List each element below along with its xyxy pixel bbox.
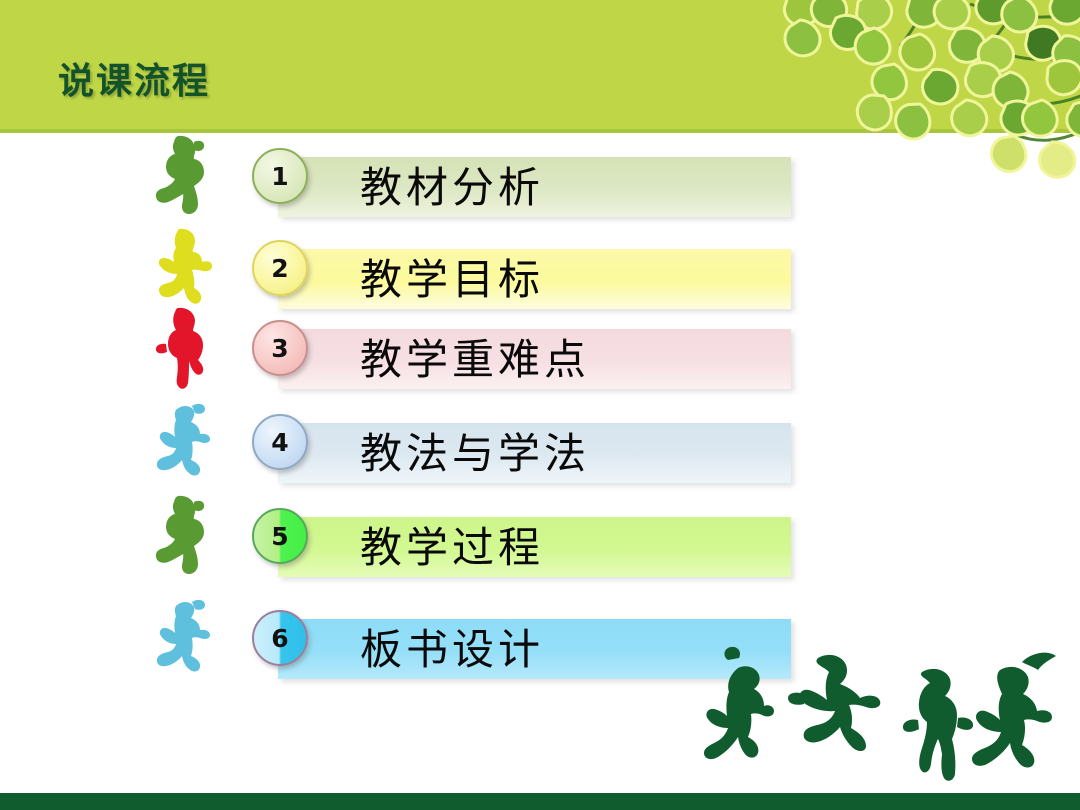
flow-number-4: 4 [254, 416, 306, 468]
walking-boy-silhouette [903, 669, 973, 781]
flow-row-1[interactable]: 1 教材分析 [0, 148, 1080, 226]
flow-label-1: 教材分析 [360, 154, 544, 215]
header-band-edge [0, 129, 1080, 133]
flow-number-1: 1 [254, 150, 306, 202]
flow-number-circle-1[interactable]: 1 [252, 148, 308, 204]
flow-number-2: 2 [254, 242, 306, 294]
child-silhouette-icon-4 [148, 400, 214, 486]
flow-label-4: 教法与学法 [360, 420, 590, 481]
flow-number-circle-4[interactable]: 4 [252, 414, 308, 470]
flow-number-circle-2[interactable]: 2 [252, 240, 308, 296]
child-silhouette-icon-5 [148, 494, 214, 580]
footer-bar [0, 793, 1080, 810]
flow-number-6: 6 [254, 612, 306, 664]
flow-row-4[interactable]: 4 教法与学法 [0, 414, 1080, 492]
flow-number-circle-6[interactable]: 6 [252, 610, 308, 666]
flow-label-5: 教学过程 [360, 514, 544, 575]
slide-canvas: 说课流程 1 教材分析 2 教学目标 [0, 0, 1080, 810]
child-silhouette-icon-6 [148, 596, 214, 682]
flow-number-circle-3[interactable]: 3 [252, 320, 308, 376]
child-silhouette-icon-3 [148, 306, 214, 392]
flow-label-2: 教学目标 [360, 246, 544, 307]
flow-row-5[interactable]: 5 教学过程 [0, 508, 1080, 586]
running-girl-ponytail-silhouette [972, 653, 1056, 768]
flow-label-6: 板书设计 [360, 616, 544, 677]
flow-number-3: 3 [254, 322, 306, 374]
page-title: 说课流程 [58, 52, 210, 104]
leaping-boy-silhouette [788, 655, 880, 751]
flow-number-circle-5[interactable]: 5 [252, 508, 308, 564]
flow-number-5: 5 [254, 510, 306, 562]
child-silhouette-icon-1 [148, 134, 214, 220]
flow-row-3[interactable]: 3 教学重难点 [0, 320, 1080, 398]
flow-label-3: 教学重难点 [360, 326, 590, 387]
running-girl-silhouette [704, 647, 774, 759]
bottom-children-silhouettes [700, 640, 1080, 795]
child-silhouette-icon-2 [148, 226, 214, 312]
